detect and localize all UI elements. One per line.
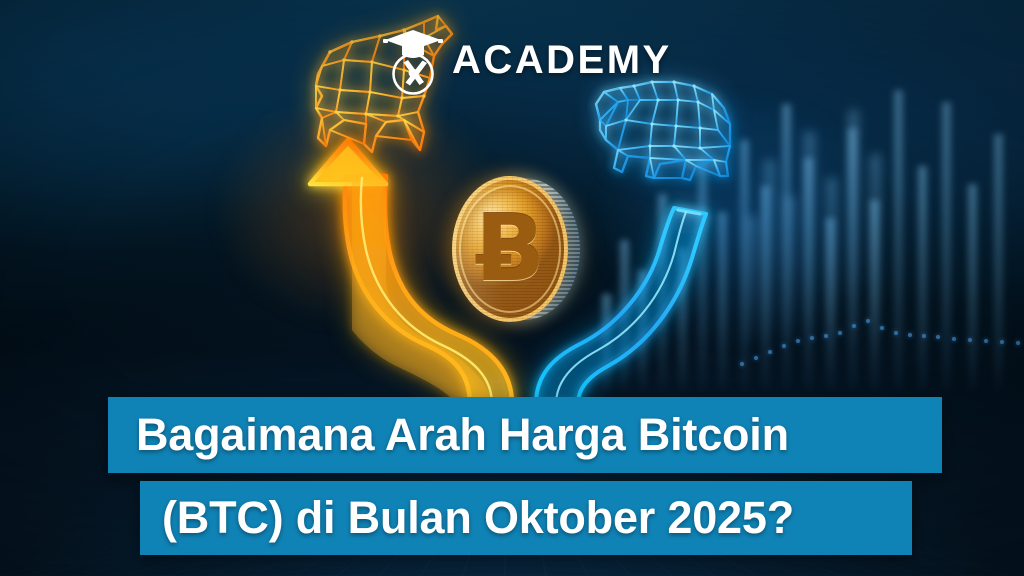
thumbnail-canvas: Ƀ ACADEMY Bagaimana Arah Har [0,0,1024,576]
graduation-cap-x-circle-icon [380,24,446,96]
title-banner-line-2: (BTC) di Bulan Oktober 2025? [140,481,912,555]
academy-logo-text: ACADEMY [452,38,672,83]
title-banner-line-1: Bagaimana Arah Harga Bitcoin [108,397,942,473]
academy-logo[interactable]: ACADEMY [380,22,630,98]
